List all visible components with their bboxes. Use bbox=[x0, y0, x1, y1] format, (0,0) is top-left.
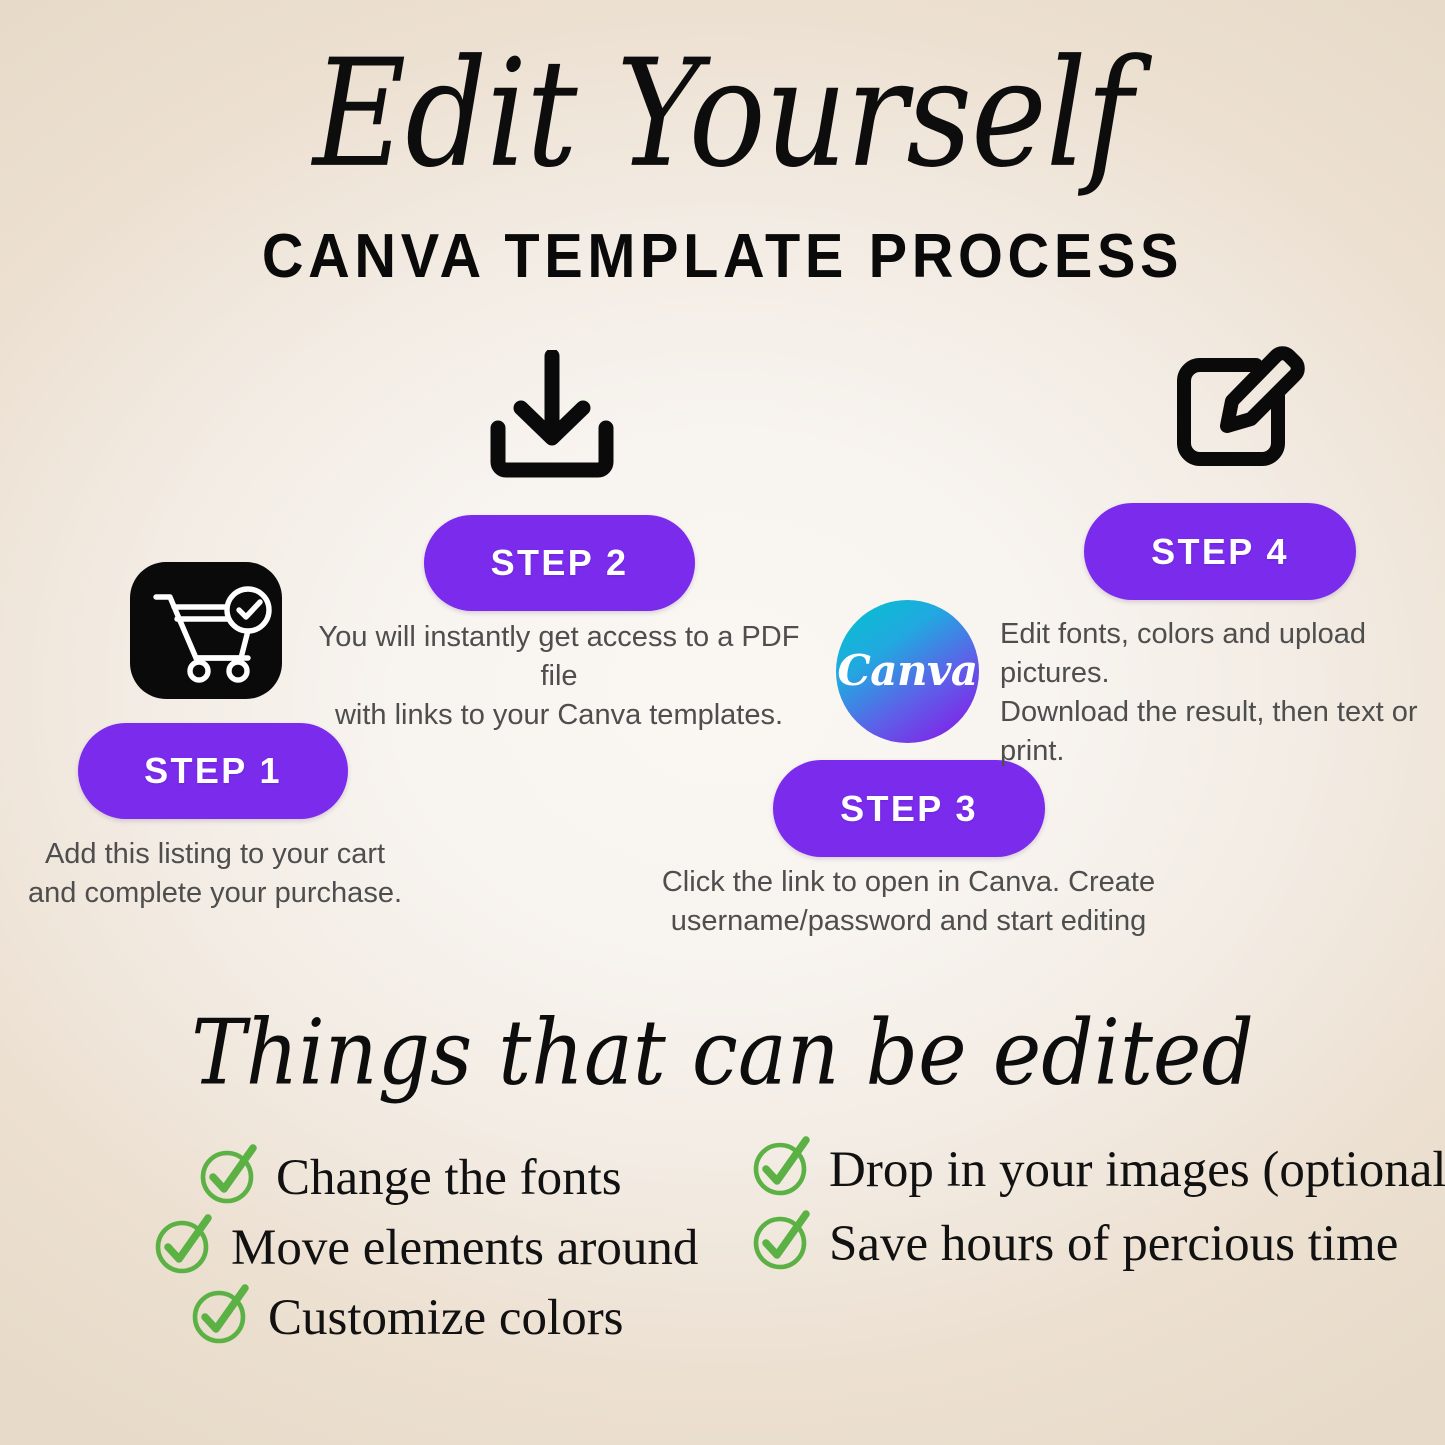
list-item: Save hours of percious time bbox=[749, 1210, 1398, 1277]
step-1-label: STEP 1 bbox=[144, 750, 282, 792]
list-item: Customize colors bbox=[188, 1284, 624, 1351]
canva-logo-icon: Canva bbox=[836, 600, 979, 743]
editable-section-heading: Things that can be edited bbox=[0, 1000, 1445, 1108]
check-circle-icon bbox=[151, 1214, 213, 1281]
download-icon bbox=[488, 350, 616, 478]
shopping-cart-check-icon bbox=[130, 562, 282, 699]
step-4-button[interactable]: STEP 4 bbox=[1084, 503, 1356, 600]
edit-pencil-square-icon bbox=[1170, 337, 1307, 474]
step-1-description: Add this listing to your cart and comple… bbox=[20, 835, 410, 913]
step-3-label: STEP 3 bbox=[840, 788, 978, 830]
step-2-description: You will instantly get access to a PDF f… bbox=[304, 618, 814, 735]
step-2-button[interactable]: STEP 2 bbox=[424, 515, 695, 611]
step-4-label: STEP 4 bbox=[1151, 531, 1289, 573]
step-3-description: Click the link to open in Canva. Create … bbox=[640, 863, 1177, 941]
check-circle-icon bbox=[749, 1210, 811, 1277]
list-item: Move elements around bbox=[151, 1214, 698, 1281]
list-item-label: Save hours of percious time bbox=[829, 1216, 1398, 1272]
check-circle-icon bbox=[749, 1136, 811, 1203]
list-item-label: Change the fonts bbox=[276, 1150, 622, 1206]
step-3-button[interactable]: STEP 3 bbox=[773, 760, 1045, 857]
step-2-label: STEP 2 bbox=[491, 542, 629, 584]
list-item-label: Move elements around bbox=[231, 1220, 698, 1276]
canva-logo-circle: Canva bbox=[836, 600, 979, 743]
list-item-label: Drop in your images (optional) bbox=[829, 1142, 1445, 1198]
step-1-button[interactable]: STEP 1 bbox=[78, 723, 348, 819]
list-item-label: Customize colors bbox=[268, 1290, 624, 1346]
list-item: Change the fonts bbox=[196, 1144, 622, 1211]
page-title: Edit Yourself bbox=[0, 28, 1445, 202]
check-circle-icon bbox=[188, 1284, 250, 1351]
poster-canvas: Edit Yourself CANVA TEMPLATE PROCESS STE… bbox=[0, 0, 1445, 1445]
canva-wordmark: Canva bbox=[837, 646, 977, 695]
list-item: Drop in your images (optional) bbox=[749, 1136, 1445, 1203]
step-4-description: Edit fonts, colors and upload pictures. … bbox=[1000, 615, 1445, 771]
check-circle-icon bbox=[196, 1144, 258, 1211]
page-subtitle: CANVA TEMPLATE PROCESS bbox=[51, 222, 1395, 292]
